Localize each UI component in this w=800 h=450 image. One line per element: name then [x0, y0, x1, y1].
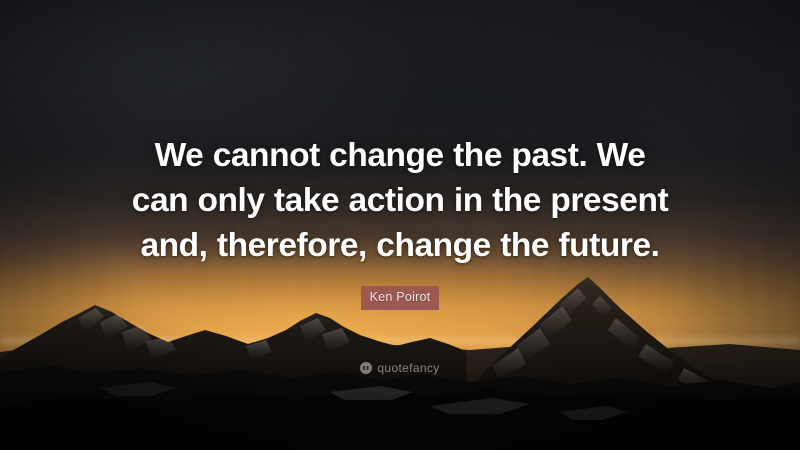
quotefancy-watermark[interactable]: quotefancy: [0, 362, 800, 374]
quote-line: and, therefore, change the future.: [110, 223, 690, 268]
quote-overlay: We cannot change the past. We can only t…: [0, 0, 800, 450]
quote-wallpaper: We cannot change the past. We can only t…: [0, 0, 800, 450]
quote-line: can only take action in the present: [110, 178, 690, 223]
author-name-badge[interactable]: Ken Poirot: [361, 286, 440, 310]
watermark-label: quotefancy: [377, 362, 439, 374]
quote-line: We cannot change the past. We: [110, 133, 690, 178]
quote-text: We cannot change the past. We can only t…: [110, 133, 690, 268]
quote-mark-badge-icon: [360, 362, 372, 374]
author-attribution: Ken Poirot: [0, 286, 800, 310]
